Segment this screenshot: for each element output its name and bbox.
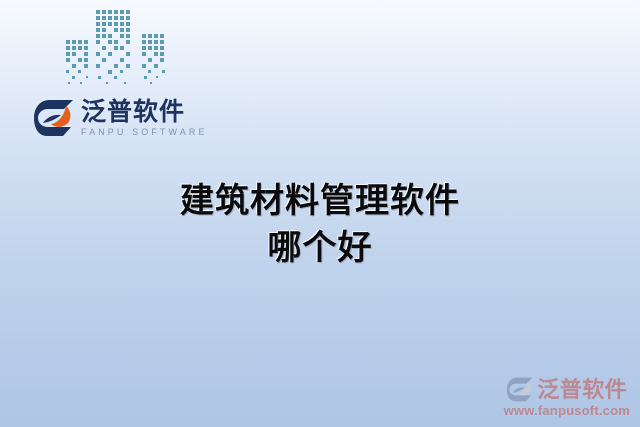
page-title-line-1: 建筑材料管理软件 [0, 178, 640, 225]
page-title-line-2: 哪个好 [0, 225, 640, 272]
brand-text: 泛普软件 FANPU SOFTWARE [81, 99, 208, 138]
page-title: 建筑材料管理软件 哪个好 [0, 178, 640, 272]
watermark: 泛普软件 www.fanpusoft.com [504, 377, 630, 418]
brand-lockup: 泛普软件 FANPU SOFTWARE [33, 96, 208, 140]
fanpu-logo-mark-watermark [506, 377, 534, 402]
watermark-brand-name: 泛普软件 [537, 378, 627, 402]
promo-banner: 泛普软件 FANPU SOFTWARE 建筑材料管理软件 哪个好 泛普软件 ww… [0, 0, 640, 427]
pixelated-buildings-icon [62, 4, 174, 94]
watermark-url: www.fanpusoft.com [504, 403, 630, 418]
brand-name-cn: 泛普软件 [81, 99, 208, 125]
fanpu-logo-mark [33, 99, 75, 137]
watermark-brand-row: 泛普软件 [506, 377, 627, 402]
brand-name-en: FANPU SOFTWARE [81, 126, 208, 138]
